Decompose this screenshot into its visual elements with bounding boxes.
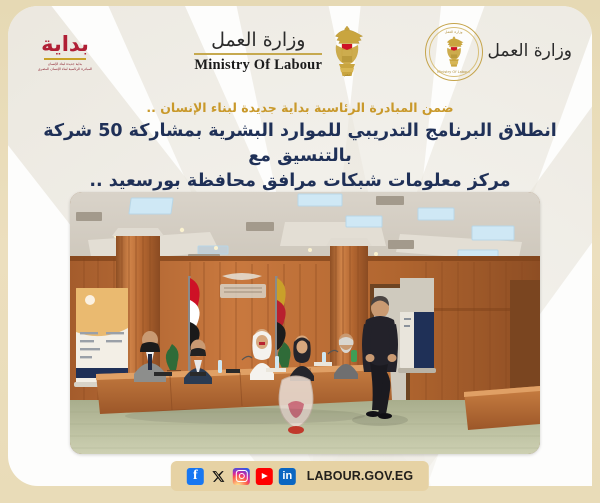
headline-block: ضمن المبادرة الرئاسية بداية جديدة لبناء … — [22, 100, 578, 194]
youtube-icon[interactable] — [256, 468, 273, 485]
bedaya-logo-rule — [44, 58, 86, 60]
bedaya-logo-mark: بداية — [41, 35, 89, 55]
ministry-of-labour-logo: وزارة العمل Ministry Of Labour — [194, 24, 364, 80]
conference-hall-photo — [70, 192, 540, 454]
headline-line-2: مركز معلومات شبكات مرافق محافظة بورسعيد … — [22, 169, 578, 194]
seal-top-text: وزارة العمل — [445, 30, 463, 34]
linkedin-icon[interactable]: in — [279, 468, 296, 485]
bedaya-initiative-logo: بداية بداية جديدة لبناء الإنسان المبادرة… — [26, 35, 104, 72]
x-twitter-icon[interactable] — [210, 468, 227, 485]
footer-social-bar: f in LABOUR.GOV.EG — [171, 461, 429, 491]
bedaya-logo-subtagline: المبادرة الرئاسية لبناء الإنسان المصري — [38, 67, 92, 72]
ministry-wordmark: وزارة العمل Ministry Of Labour — [194, 30, 322, 73]
ministry-name-english: Ministry Of Labour — [194, 57, 322, 74]
rollup-banner-left — [74, 288, 130, 387]
conference-hall-photo-illustration — [70, 192, 540, 454]
headline-line-1: انطلاق البرنامج التدريبي للموارد البشرية… — [22, 119, 578, 169]
ministry-seal-icon: وزارة العمل Ministry — [425, 23, 483, 81]
poster-card: بداية بداية جديدة لبناء الإنسان المبادرة… — [8, 6, 592, 486]
svg-text:مصر: مصر — [343, 73, 350, 77]
facebook-icon[interactable]: f — [187, 468, 204, 485]
ministry-name-arabic: وزارة العمل — [211, 30, 305, 51]
poster-root: بداية بداية جديدة لبناء الإنسان المبادرة… — [0, 0, 600, 503]
ministry-seal-logo: وزارة العمل Ministry — [425, 23, 572, 81]
ministry-seal-arabic: وزارة العمل — [488, 43, 572, 61]
egypt-eagle-emblem-icon: مصر — [330, 24, 364, 80]
ministry-wordmark-rule — [194, 53, 322, 55]
website-url[interactable]: LABOUR.GOV.EG — [307, 469, 413, 483]
rollup-banner-right — [398, 278, 436, 373]
headline-kicker: ضمن المبادرة الرئاسية بداية جديدة لبناء … — [22, 100, 578, 116]
poster-header: بداية بداية جديدة لبناء الإنسان المبادرة… — [8, 6, 592, 98]
panelist-3 — [250, 329, 274, 380]
instagram-icon[interactable] — [233, 468, 250, 485]
seal-bottom-text: Ministry Of Labour — [437, 70, 470, 74]
